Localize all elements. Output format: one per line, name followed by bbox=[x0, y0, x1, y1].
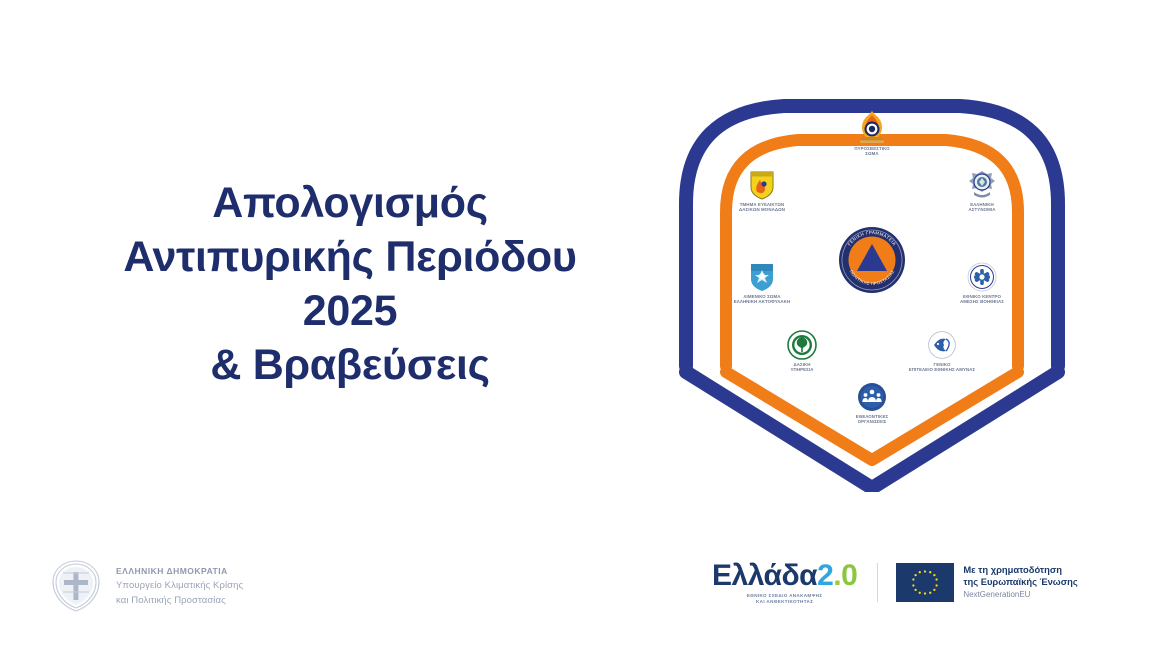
title-line-1: Απολογισμός bbox=[60, 176, 640, 230]
agency-label-forest-service: ΔΑΣΙΚΗ ΥΠΗΡΕΣΙΑ bbox=[742, 362, 862, 373]
coast-guard-shield-icon bbox=[749, 262, 775, 292]
title-line-3: 2025 bbox=[60, 284, 640, 338]
eu-line-3: NextGenerationEU bbox=[963, 589, 1077, 601]
eu-funding-block: Με τη χρηματοδότηση της Ευρωπαϊκής Ένωση… bbox=[877, 563, 1077, 602]
greece-2-0-word: Ελλάδα bbox=[712, 559, 817, 592]
agency-label-fire-service: ΠΥΡΟΣΒΕΣΤΙΚΟ ΣΩΜΑ bbox=[812, 146, 932, 157]
title-line-2: Αντιπυρικής Περιόδου bbox=[60, 230, 640, 284]
civil-protection-shield-emblem: ΠΥΡΟΣΒΕΣΤΙΚΟ ΣΩΜΑ ΤΜΗΜΑ ΕΥΕΛΙΚΤΩΝ ΔΑΣΙΚΩ… bbox=[664, 76, 1080, 492]
volunteers-icon bbox=[857, 382, 887, 412]
eu-funding-text: Με τη χρηματοδότηση της Ευρωπαϊκής Ένωση… bbox=[963, 564, 1077, 601]
agency-label-ekab: ΕΘΝΙΚΟ ΚΕΝΤΡΟ ΑΜΕΣΗΣ ΒΟΗΘΕΙΑΣ bbox=[922, 294, 1042, 305]
government-title-text: ΕΛΛΗΝΙΚΗ ΔΗΜΟΚΡΑΤΙΑ Υπουργείο Κλιματικής… bbox=[116, 565, 243, 608]
greece-2-0-zero: 0 bbox=[841, 559, 857, 592]
agency-node-fire-service: ΠΥΡΟΣΒΕΣΤΙΚΟ ΣΩΜΑ bbox=[812, 110, 932, 157]
agency-label-volunteers: ΕΘΕΛΟΝΤΙΚΕΣ ΟΡΓΑΝΩΣΕΙΣ bbox=[812, 414, 932, 425]
ekab-icon bbox=[967, 262, 997, 292]
hellenic-republic-emblem-icon bbox=[48, 558, 104, 614]
funding-footer: Ελλάδα2.0 ΕΘΝΙΚΟ ΣΧΕΔΙΟ ΑΝΑΚΑΜΨΗΣ ΚΑΙ ΑΝ… bbox=[712, 560, 1078, 606]
central-civil-protection-logo: ΓΕΝΙΚΗ ΓΡΑΜΜΑΤΕΙΑ ΠΟΛΙΤΙΚΗΣ ΠΡΟΣΤΑΣΙΑΣ bbox=[812, 226, 932, 294]
agency-node-forest-fire-teams: ΤΜΗΜΑ ΕΥΕΛΙΚΤΩΝ ΔΑΣΙΚΩΝ ΜΟΝΑΔΩΝ bbox=[702, 170, 822, 213]
eu-line-1: Με τη χρηματοδότηση bbox=[963, 564, 1077, 576]
eu-line-2: της Ευρωπαϊκής Ένωσης bbox=[963, 576, 1077, 588]
agency-label-coast-guard: ΛΙΜΕΝΙΚΟ ΣΩΜΑ ΕΛΛΗΝΙΚΗ ΑΚΤΟΦΥΛΑΚΗ bbox=[702, 294, 822, 305]
armed-forces-icon bbox=[927, 330, 957, 360]
agency-node-forest-service: ΔΑΣΙΚΗ ΥΠΗΡΕΣΙΑ bbox=[742, 330, 862, 373]
forest-service-icon bbox=[787, 330, 817, 360]
fire-service-icon bbox=[857, 110, 887, 144]
greece-2-0-logo: Ελλάδα2.0 ΕΘΝΙΚΟ ΣΧΕΔΙΟ ΑΝΑΚΑΜΨΗΣ ΚΑΙ ΑΝ… bbox=[712, 560, 877, 606]
agency-node-coast-guard: ΛΙΜΕΝΙΚΟ ΣΩΜΑ ΕΛΛΗΝΙΚΗ ΑΚΤΟΦΥΛΑΚΗ bbox=[702, 262, 822, 305]
agency-label-armed-forces: ΓΕΝΙΚΟ ΕΠΙΤΕΛΕΙΟ ΕΘΝΙΚΗΣ ΑΜΥΝΑΣ bbox=[882, 362, 1002, 373]
greece-2-0-two: 2 bbox=[817, 559, 833, 592]
title-line-4: & Βραβεύσεις bbox=[60, 338, 640, 392]
agency-node-ekab: ΕΘΝΙΚΟ ΚΕΝΤΡΟ ΑΜΕΣΗΣ ΒΟΗΘΕΙΑΣ bbox=[922, 262, 1042, 305]
gov-line-2: Υπουργείο Κλιματικής Κρίσης bbox=[116, 578, 243, 593]
presentation-slide: Απολογισμός Αντιπυρικής Περιόδου 2025 & … bbox=[0, 0, 1168, 656]
hellenic-police-icon bbox=[966, 170, 998, 200]
greece-2-0-subtitle: ΕΘΝΙΚΟ ΣΧΕΔΙΟ ΑΝΑΚΑΜΨΗΣ ΚΑΙ ΑΝΘΕΚΤΙΚΟΤΗΤ… bbox=[712, 593, 857, 606]
government-footer-logo: ΕΛΛΗΝΙΚΗ ΔΗΜΟΚΡΑΤΙΑ Υπουργείο Κλιματικής… bbox=[48, 558, 243, 614]
agency-node-armed-forces: ΓΕΝΙΚΟ ΕΠΙΤΕΛΕΙΟ ΕΘΝΙΚΗΣ ΑΜΥΝΑΣ bbox=[882, 330, 1002, 373]
agency-node-volunteers: ΕΘΕΛΟΝΤΙΚΕΣ ΟΡΓΑΝΩΣΕΙΣ bbox=[812, 382, 932, 425]
gov-line-1: ΕΛΛΗΝΙΚΗ ΔΗΜΟΚΡΑΤΙΑ bbox=[116, 565, 243, 578]
forest-fire-teams-shield-icon bbox=[749, 170, 775, 200]
agency-label-hellenic-police: ΕΛΛΗΝΙΚΗ ΑΣΤΥΝΟΜΙΑ bbox=[922, 202, 1042, 213]
greece-2-0-wordmark: Ελλάδα2.0 bbox=[712, 560, 857, 592]
gov-line-3: και Πολιτικής Προστασίας bbox=[116, 593, 243, 608]
page-title: Απολογισμός Αντιπυρικής Περιόδου 2025 & … bbox=[60, 176, 640, 392]
agency-node-hellenic-police: ΕΛΛΗΝΙΚΗ ΑΣΤΥΝΟΜΙΑ bbox=[922, 170, 1042, 213]
eu-stars-circle bbox=[896, 563, 954, 602]
agency-label-forest-fire-teams: ΤΜΗΜΑ ΕΥΕΛΙΚΤΩΝ ΔΑΣΙΚΩΝ ΜΟΝΑΔΩΝ bbox=[702, 202, 822, 213]
greece-2-0-dot: . bbox=[833, 559, 841, 592]
civil-protection-triangle-icon: ΓΕΝΙΚΗ ΓΡΑΜΜΑΤΕΙΑ ΠΟΛΙΤΙΚΗΣ ΠΡΟΣΤΑΣΙΑΣ bbox=[838, 226, 906, 294]
eu-flag-icon bbox=[896, 563, 954, 602]
